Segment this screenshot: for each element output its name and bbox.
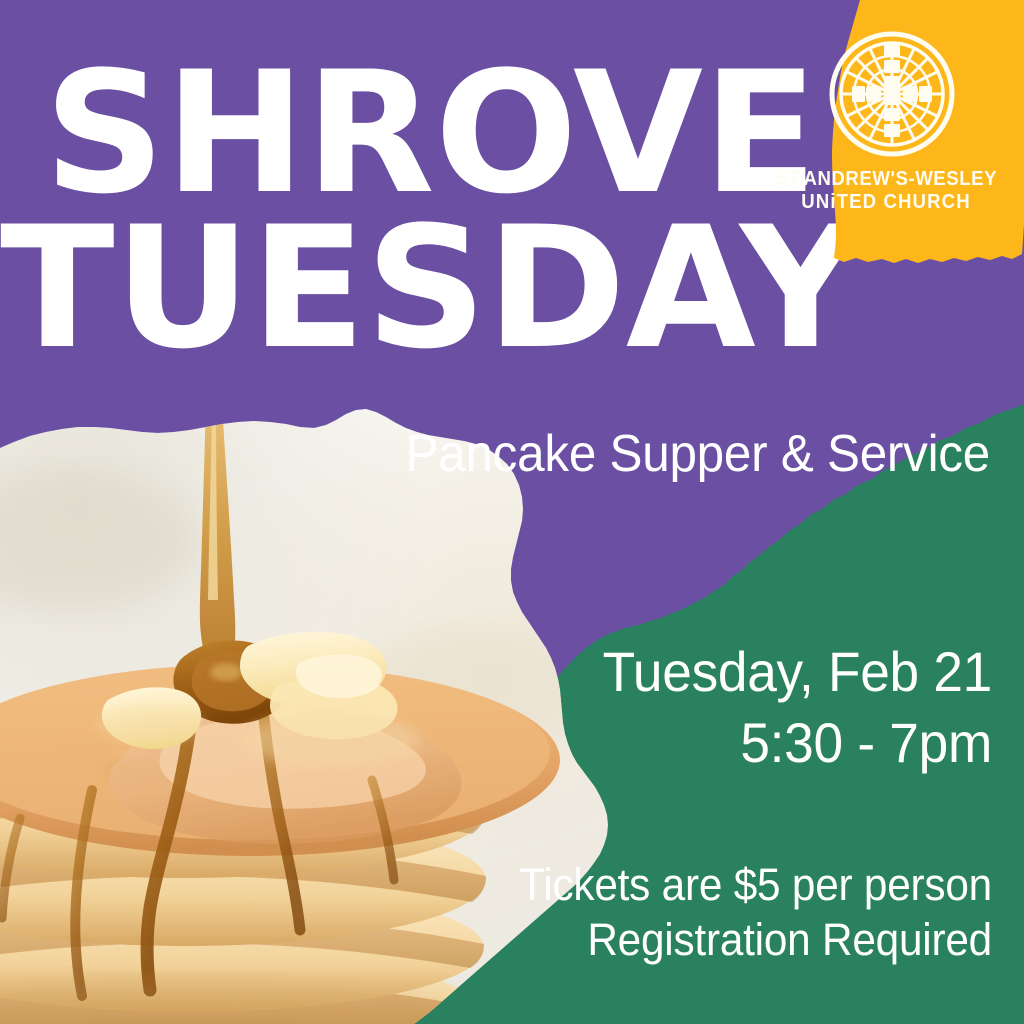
ticket-info: Tickets are $5 per person Registration R… bbox=[60, 858, 992, 968]
event-datetime: Tuesday, Feb 21 5:30 - 7pm bbox=[50, 636, 992, 778]
org-name-line-2: UNiTED CHURCH bbox=[771, 191, 1002, 214]
organization-wordmark: ST.ANDREW'S-WESLEY UNiTED CHURCH bbox=[771, 168, 1002, 214]
event-time: 5:30 - 7pm bbox=[50, 707, 992, 778]
headline-line-2: TUESDAY bbox=[0, 207, 790, 370]
ticket-price: Tickets are $5 per person bbox=[60, 858, 992, 913]
event-date: Tuesday, Feb 21 bbox=[50, 636, 992, 707]
rose-window-cross-icon bbox=[828, 30, 956, 158]
shrove-tuesday-poster: SHROVE TUESDAY Pancake Supper & Service … bbox=[0, 0, 1024, 1024]
page-title: SHROVE TUESDAY bbox=[0, 52, 790, 370]
subtitle: Pancake Supper & Service bbox=[50, 424, 991, 484]
registration-note: Registration Required bbox=[60, 913, 992, 968]
org-name-line-1: ST.ANDREW'S-WESLEY bbox=[771, 168, 1002, 191]
